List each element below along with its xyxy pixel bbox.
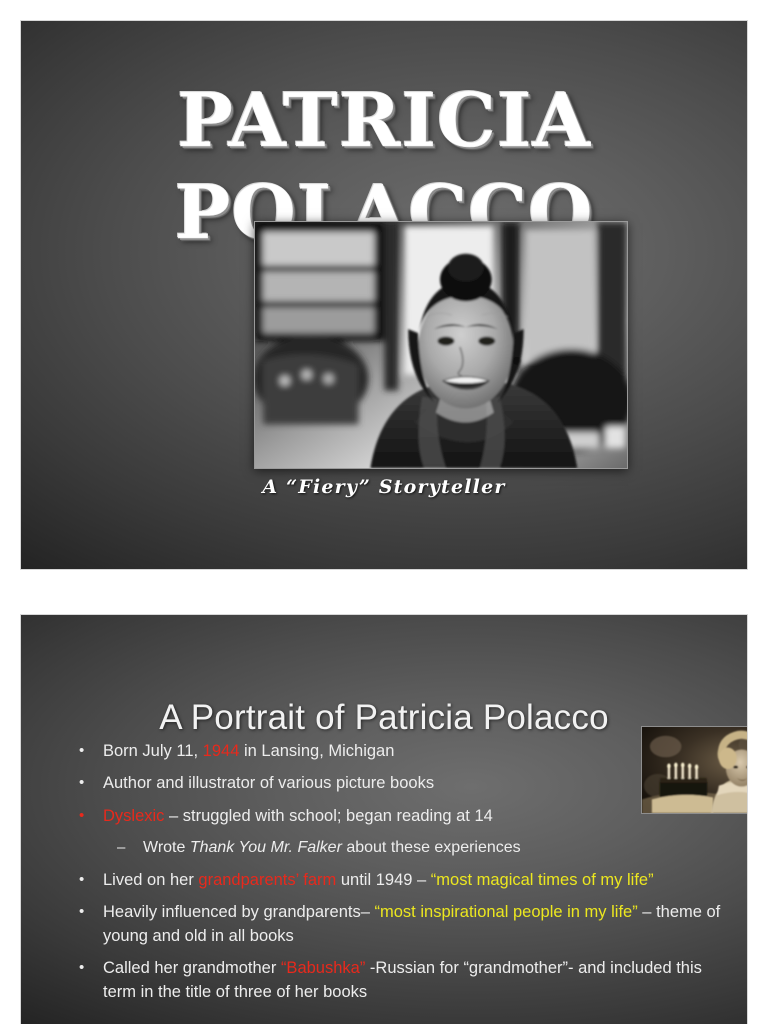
text-run-plain: – struggled with school; began reading a… [164, 807, 492, 825]
bullet-marker-icon: • [79, 957, 84, 978]
text-run-plain: Heavily influenced by grandparents– [103, 903, 375, 921]
bullet-item: •Author and illustrator of various pictu… [51, 772, 643, 795]
presentation-page: PATRICIA POLACCO [0, 0, 768, 1024]
text-run-plain: in Lansing, Michigan [239, 742, 394, 760]
bullet-marker-icon: • [79, 901, 84, 922]
bullet-text: Wrote Thank You Mr. Falker about these e… [143, 839, 521, 856]
text-run-red: grandparents’ farm [198, 871, 336, 889]
bullet-item: •Heavily influenced by grandparents– “mo… [51, 901, 731, 948]
portrait-photo [254, 221, 628, 469]
text-run-red: “Babushka” [281, 959, 365, 977]
slide-portrait: A Portrait of Patricia Polacco [20, 614, 748, 1024]
text-run-plain: Lived on her [103, 871, 198, 889]
text-run-plain: Wrote [143, 839, 190, 856]
slide-heading: A Portrait of Patricia Polacco [21, 698, 747, 738]
bullet-marker-icon: • [79, 869, 84, 890]
sub-bullet-item: –Wrote Thank You Mr. Falker about these … [51, 837, 683, 860]
bullet-text: Heavily influenced by grandparents– “mos… [103, 903, 720, 944]
bullet-item: •Born July 11, 1944 in Lansing, Michigan [51, 740, 643, 763]
bullet-list: •Born July 11, 1944 in Lansing, Michigan… [51, 740, 731, 1013]
bullet-text: Dyslexic – struggled with school; began … [103, 807, 493, 825]
text-run-red: Dyslexic [103, 807, 164, 825]
bullet-text: Author and illustrator of various pictur… [103, 774, 434, 792]
bullet-text: Lived on her grandparents’ farm until 19… [103, 871, 654, 889]
text-run-yellow: “most inspirational people in my life” [375, 903, 638, 921]
text-run-plain: until 1949 – [336, 871, 431, 889]
text-run-red: 1944 [203, 742, 240, 760]
bullet-item: •Dyslexic – struggled with school; began… [51, 805, 643, 828]
text-run-yellow: “most magical times of my life” [431, 871, 654, 889]
bullet-text: Called her grandmother “Babushka” -Russi… [103, 959, 702, 1000]
text-run-italic: Thank You Mr. Falker [190, 839, 342, 856]
text-run-plain: Author and illustrator of various pictur… [103, 774, 434, 792]
text-run-plain: about these experiences [342, 839, 521, 856]
text-run-plain: Called her grandmother [103, 959, 281, 977]
bullet-marker-icon: • [79, 740, 84, 761]
bullet-marker-icon: • [79, 805, 84, 826]
bullet-marker-icon: – [117, 837, 125, 858]
bullet-item: •Called her grandmother “Babushka” -Russ… [51, 957, 731, 1004]
text-run-plain: Born July 11, [103, 742, 203, 760]
slide-title: PATRICIA POLACCO [20, 20, 748, 570]
tagline: A “Fiery” Storyteller [21, 476, 747, 498]
bullet-item: •Lived on her grandparents’ farm until 1… [51, 869, 731, 892]
bullet-text: Born July 11, 1944 in Lansing, Michigan [103, 742, 394, 760]
bullet-marker-icon: • [79, 772, 84, 793]
